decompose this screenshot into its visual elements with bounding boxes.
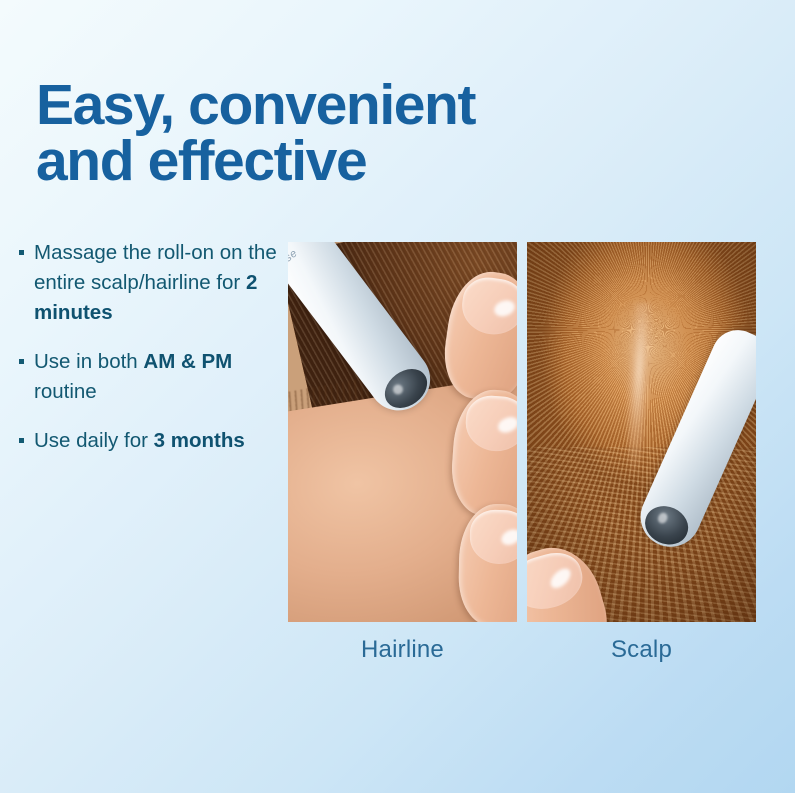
bullet-square-icon (19, 250, 24, 255)
instruction-text: Massage the roll-on on the entire scalp/… (34, 241, 277, 324)
instruction-emphasis: 3 months (154, 429, 245, 452)
instruction-list: Massage the roll-on on the entire scalp/… (19, 238, 287, 456)
product-brandmark: vise (288, 247, 300, 270)
nail-highlight (495, 414, 517, 436)
bullet-square-icon (19, 359, 24, 364)
photo-scalp-content (527, 242, 756, 622)
photo-hairline-content: vise (288, 242, 517, 622)
fingernail (464, 394, 517, 454)
bullet-square-icon (19, 438, 24, 443)
nail-highlight (547, 565, 574, 592)
list-item: Use in both AM & PM routine (19, 347, 287, 407)
caption-scalp: Scalp (527, 636, 756, 664)
instruction-prefix: Massage the roll-on on the entire scalp/… (34, 241, 277, 294)
promo-panel: Easy, convenient and effective Massage t… (0, 0, 795, 793)
instruction-emphasis: AM & PM (143, 350, 232, 373)
nail-highlight (499, 527, 517, 549)
photo-hairline-application: vise (288, 242, 517, 622)
instruction-text: Use daily for 3 months (34, 429, 245, 452)
photo-scalp-application (527, 242, 756, 622)
nail-highlight (492, 298, 517, 319)
instruction-prefix: Use in both (34, 350, 143, 373)
instruction-suffix: routine (34, 380, 97, 403)
fingernail (458, 274, 517, 338)
instruction-text: Use in both AM & PM routine (34, 350, 232, 403)
headline-line-1: Easy, convenient (36, 78, 556, 134)
list-item: Massage the roll-on on the entire scalp/… (19, 238, 287, 328)
instruction-prefix: Use daily for (34, 429, 154, 452)
list-item: Use daily for 3 months (19, 426, 287, 456)
caption-hairline: Hairline (288, 636, 517, 664)
page-title: Easy, convenient and effective (36, 78, 556, 190)
fingernail (469, 509, 517, 564)
headline-line-2: and effective (36, 134, 556, 190)
